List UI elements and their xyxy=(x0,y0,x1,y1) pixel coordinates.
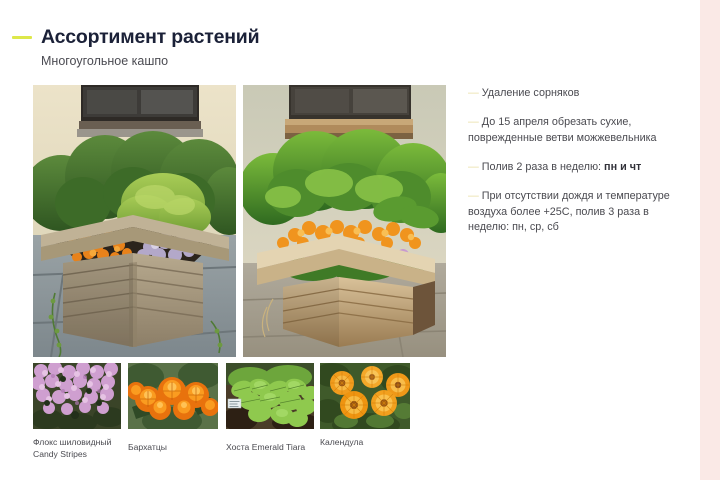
care-note-item: — При отсутствии дождя и температуре воз… xyxy=(468,189,683,235)
plant-thumbnail-marigold xyxy=(128,363,218,429)
note-dash-icon: — xyxy=(468,87,479,99)
phlox-candy-stripes-photo xyxy=(33,363,121,429)
plant-thumbnail-hosta xyxy=(226,363,314,429)
note-dash-icon: — xyxy=(468,116,479,128)
slide-header: Ассортимент растений Многоугольное кашпо xyxy=(12,27,442,69)
calendula-photo xyxy=(320,363,410,429)
plant-thumbnail-phlox xyxy=(33,363,121,429)
hosta-emerald-tiara-photo xyxy=(226,363,314,429)
plant-thumbnail-calendula xyxy=(320,363,410,429)
plant-caption: Хоста Emerald Tiara xyxy=(226,442,322,454)
page-title: Ассортимент растений xyxy=(41,27,259,48)
planter-photo-front-image xyxy=(33,85,236,357)
care-notes-list: — Удаление сорняков — До 15 апреля обрез… xyxy=(468,86,683,235)
planter-photo-angle xyxy=(243,85,446,357)
plant-caption: Флокс шиловидный Candy Stripes xyxy=(33,437,129,461)
care-note-item: — Полив 2 раза в неделю: пн и чт xyxy=(468,160,683,175)
planter-photo-angle-image xyxy=(243,85,446,357)
plant-caption: Календула xyxy=(320,437,416,449)
note-text: При отсутствии дождя и температуре возду… xyxy=(468,190,670,233)
note-text: До 15 апреля обрезать сухие, поврежденны… xyxy=(468,116,657,143)
slide-canvas: Ассортимент растений Многоугольное кашпо xyxy=(0,0,720,480)
care-note-item: — Удаление сорняков xyxy=(468,86,683,101)
title-row: Ассортимент растений xyxy=(12,27,442,48)
right-accent-band xyxy=(700,0,720,480)
note-text: Удаление сорняков xyxy=(479,87,580,99)
care-note-item: — До 15 апреля обрезать сухие, поврежден… xyxy=(468,115,683,146)
note-dash-icon: — xyxy=(468,190,479,202)
title-dash-icon xyxy=(12,36,32,39)
page-subtitle: Многоугольное кашпо xyxy=(41,54,442,69)
note-text: Полив 2 раза в неделю: xyxy=(479,161,604,173)
planter-photo-front xyxy=(33,85,236,357)
note-text-bold: пн и чт xyxy=(604,161,641,173)
plant-caption: Бархатцы xyxy=(128,442,224,454)
marigold-photo xyxy=(128,363,218,429)
note-dash-icon: — xyxy=(468,161,479,173)
